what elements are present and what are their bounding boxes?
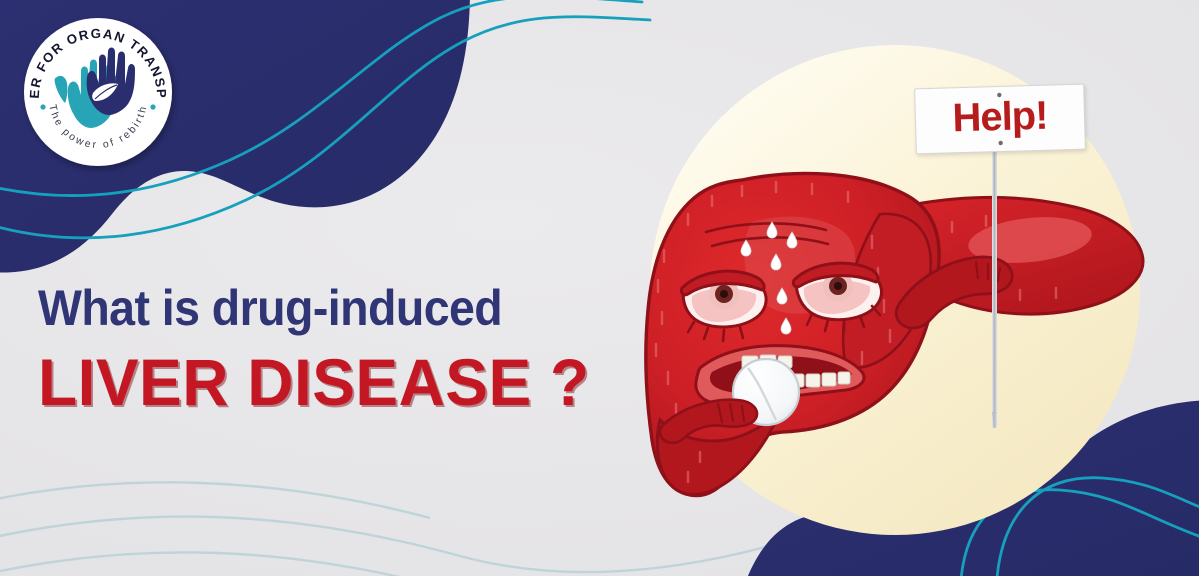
center-for-organ-transplant-logo[interactable]: CENTER FOR ORGAN TRANSPLANT The power of… (17, 11, 179, 173)
headline-block: What is drug-induced LIVER DISEASE ? (38, 283, 607, 415)
help-sign-text: Help! (952, 96, 1048, 139)
help-sign: Help! (905, 80, 1105, 430)
help-sign-board: Help! (914, 84, 1086, 155)
headline-line-1: What is drug-induced (38, 283, 567, 333)
logo-dot-left (40, 104, 45, 109)
headline-line-2: LIVER DISEASE ? (38, 349, 590, 415)
banner-root: CENTER FOR ORGAN TRANSPLANT The power of… (0, 0, 1199, 576)
logo-dot-right (150, 104, 155, 109)
